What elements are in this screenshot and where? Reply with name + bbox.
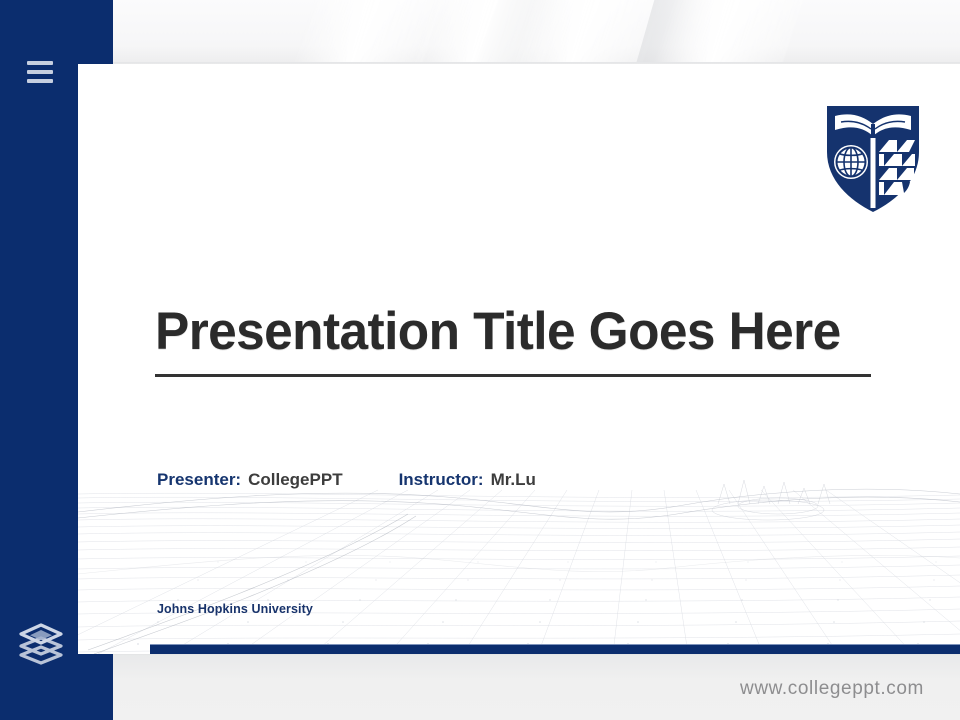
instructor-value: Mr.Lu	[491, 470, 536, 490]
slide-bottom-accent-bar	[150, 644, 960, 654]
site-url-label: www.collegeppt.com	[740, 678, 924, 700]
johns-hopkins-shield-logo	[823, 100, 923, 215]
hamburger-icon[interactable]	[27, 61, 53, 83]
instructor-label: Instructor:	[399, 470, 484, 490]
hamburger-bar-2	[27, 70, 53, 74]
top-decorative-strip	[0, 0, 960, 64]
presenter-instructor-row: Presenter: CollegePPT Instructor: Mr.Lu	[157, 470, 536, 490]
hamburger-bar-3	[27, 79, 53, 83]
presenter-label: Presenter:	[157, 470, 241, 490]
hamburger-bar-1	[27, 61, 53, 65]
slide-canvas: Presentation Title Goes Here Presenter: …	[78, 64, 960, 654]
presentation-slide-viewer: Presentation Title Goes Here Presenter: …	[0, 0, 960, 720]
layers-stack-icon[interactable]	[15, 618, 67, 668]
presenter-value: CollegePPT	[248, 470, 342, 490]
title-block: Presentation Title Goes Here	[155, 304, 875, 377]
page-title: Presentation Title Goes Here	[155, 304, 853, 360]
footer-organization-name: Johns Hopkins University	[157, 602, 313, 616]
title-underline-rule	[155, 374, 871, 377]
